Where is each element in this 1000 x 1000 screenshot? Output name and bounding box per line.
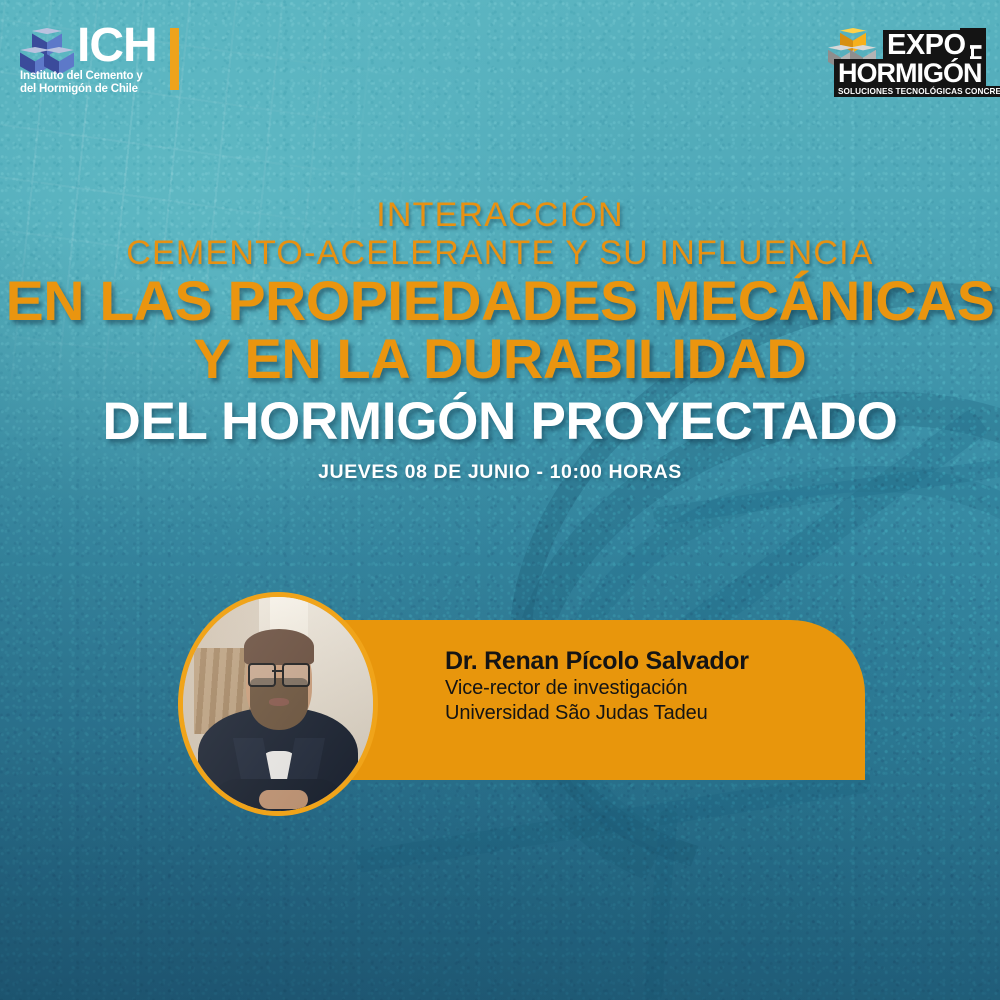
background-teal-tint — [0, 0, 1000, 1000]
title-line-3: EN LAS PROPIEDADES MECÁNICAS — [0, 272, 1000, 330]
title-line-1: INTERACCIÓN — [0, 196, 1000, 234]
speaker-card: Dr. Renan Pícolo Salvador Vice-rector de… — [300, 620, 865, 780]
title-line-2: CEMENTO-ACELERANTE Y SU INFLUENCIA — [0, 234, 1000, 272]
expo-word: EXPO — [883, 30, 970, 60]
ich-subtitle: Instituto del Cemento y del Hormigón de … — [20, 70, 168, 95]
speaker-details: Dr. Renan Pícolo Salvador Vice-rector de… — [445, 646, 865, 726]
event-poster: ICH Instituto del Cemento y del Hormigón… — [0, 0, 1000, 1000]
expo-tagline: SOLUCIONES TECNOLÓGICAS CONCRETAS — [834, 86, 1000, 97]
ich-acronym: ICH — [77, 22, 157, 70]
ich-accent-bar — [170, 28, 179, 90]
ich-logo: ICH Instituto del Cemento y del Hormigón… — [20, 28, 188, 96]
speaker-name: Dr. Renan Pícolo Salvador — [445, 646, 865, 676]
event-datetime: JUEVES 08 DE JUNIO - 10:00 HORAS — [0, 460, 1000, 484]
speaker-organization: Universidad São Judas Tadeu — [445, 701, 865, 726]
title-line-5: DEL HORMIGÓN PROYECTADO — [0, 392, 1000, 452]
expo-hormigon-logo: ICH EXPO HORMIGÓN SOLUCIONES TECNOLÓGICA… — [828, 26, 986, 98]
speaker-role: Vice-rector de investigación — [445, 676, 865, 701]
speaker-portrait — [178, 592, 378, 816]
expo-hormigon-word: HORMIGÓN — [834, 59, 986, 87]
ich-subtitle-line-1: Instituto del Cemento y — [20, 70, 168, 83]
title-line-4: Y EN LA DURABILIDAD — [0, 330, 1000, 388]
ich-subtitle-line-2: del Hormigón de Chile — [20, 83, 168, 96]
title-block: INTERACCIÓN CEMENTO-ACELERANTE Y SU INFL… — [0, 196, 1000, 484]
